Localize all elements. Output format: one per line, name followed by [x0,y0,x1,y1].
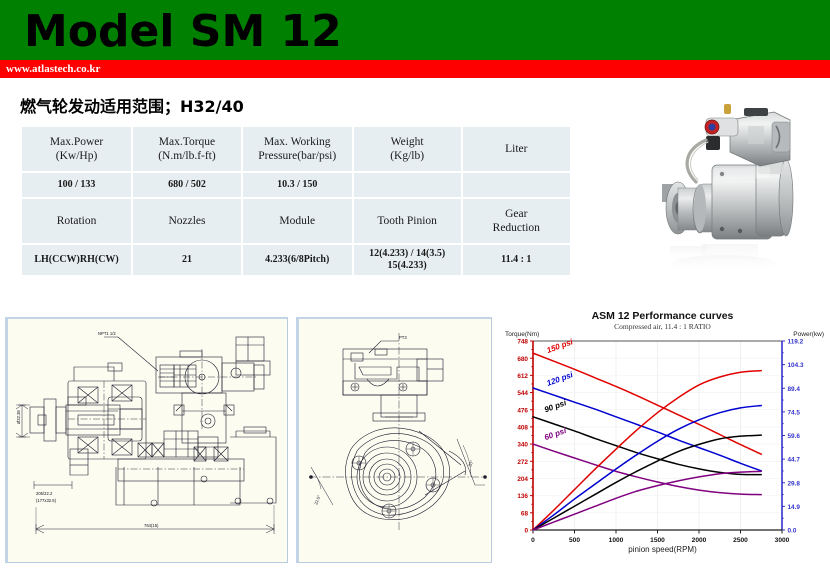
chart-title: ASM 12 Performance curves [497,310,828,322]
chart-ytick-right: 0.0 [788,528,797,535]
chart-ytick-left: 612 [517,373,528,380]
header-line-1: Max.Power [25,135,128,149]
performance-chart-panel: ASM 12 Performance curves Compressed air… [497,305,828,563]
header-line-1: Rotation [25,214,128,228]
chart-xtick: 2500 [733,537,748,544]
header-line-1: Weight [357,135,458,149]
value-cell-module: 4.233(6/8Pitch) [243,245,352,275]
drawing-panel-side-view[interactable]: NPT1 1/2 Ø32.38 205/22.2 (177x32.5) 764(… [5,317,288,563]
table-row-values-2: LH(CCW)RH(CW) 21 4.233(6/8Pitch) 12(4.23… [22,245,570,275]
chart-ytick-left: 748 [517,339,528,346]
table-row-header-2: Rotation Nozzles Module Tooth Pinion Gea… [22,199,570,243]
header-line-1: Module [246,214,349,228]
drawing-panel-front-view[interactable]: PT3 22.5° 30° 截图(Alt + A) [296,317,492,563]
table-row-values-1: 100 / 133 680 / 502 10.3 / 150 [22,173,570,197]
header-cell-nozzles: Nozzles [133,199,241,243]
header-line-2: Pressure(bar/psi) [246,149,349,163]
drawing-dim-overall: 764(15) [144,523,159,528]
value-cell-max-power: 100 / 133 [22,173,131,197]
chart-yaxis-label-right: Power(kw) [793,331,824,338]
value-cell-liter [463,173,570,197]
header-cell-gear-reduction: Gear Reduction [463,199,570,243]
drawing-dim-small-a: 205/22.2 [36,491,53,496]
chart-ytick-left: 0 [524,528,528,535]
chart-ytick-left: 340 [517,442,528,449]
header-line-2: (Kw/Hp) [25,149,128,163]
chart-ytick-right: 74.5 [788,409,801,416]
value-cell-rotation: LH(CCW)RH(CW) [22,245,131,275]
value-cell-gear-reduction: 11.4 : 1 [463,245,570,275]
front-section-assembly-drawing: PT3 22.5° 30° [299,319,491,561]
header-cell-liter: Liter [463,127,570,171]
value-cell-weight [354,173,461,197]
chart-ytick-right: 59.6 [788,433,801,440]
value-cell-nozzles: 21 [133,245,241,275]
drawing-dim-vertical: Ø32.38 [16,410,21,424]
chart-ytick-left: 136 [517,493,528,500]
drawing-callout-npt: NPT1 1/2 [98,331,116,336]
chart-ytick-right: 44.7 [788,457,801,464]
chart-ytick-right: 14.9 [788,504,801,511]
header-line-1: Gear [466,207,567,221]
drawing-dim-small-b: (177x32.5) [36,498,57,503]
chart-ytick-left: 544 [517,390,528,397]
value-cell-max-torque: 680 / 502 [133,173,241,197]
value-line-2: 15(4.233) [357,260,458,272]
header-cell-module: Module [243,199,352,243]
company-url: www.atlastech.co.kr [6,60,100,78]
section-subtitle: 燃气轮发动适用范围；H32/40 [20,93,244,117]
chart-ytick-left: 476 [517,407,528,414]
table-row-header-1: Max.Power (Kw/Hp) Max.Torque (N.m/lb.f-f… [22,127,570,171]
chart-xtick: 1500 [650,537,665,544]
chart-ytick-right: 104.3 [788,362,804,369]
starter-motor-illustration [662,96,826,294]
chart-ytick-right: 119.2 [788,339,804,346]
performance-chart-svg: 0681362042723404084765446126807480.014.9… [497,305,828,563]
chart-yaxis-label-left: Torque(Nm) [505,331,539,338]
drawing-angle-left: 22.5° [313,494,321,505]
header-cell-max-power: Max.Power (Kw/Hp) [22,127,131,171]
chart-ytick-left: 204 [517,476,528,483]
page-title: Model SM 12 [24,4,342,60]
header-line-1: Liter [466,142,567,156]
chart-ytick-right: 89.4 [788,386,801,393]
chart-subtitle: Compressed air, 11.4 : 1 RATIO [497,322,828,331]
chart-ytick-left: 272 [517,459,528,466]
chart-ytick-right: 29.8 [788,480,801,487]
header-line-2: Reduction [466,221,567,235]
url-red-band [0,60,830,78]
value-line-1: 12(4.233) / 14(3.5) [357,248,458,260]
chart-ytick-left: 680 [517,356,528,363]
side-section-assembly-drawing: NPT1 1/2 Ø32.38 205/22.2 (177x32.5) 764(… [8,319,287,561]
product-photo-starter-motor [662,96,826,294]
header-cell-rotation: Rotation [22,199,131,243]
header-line-2: (N.m/lb.f-ft) [136,149,238,163]
header-cell-max-torque: Max.Torque (N.m/lb.f-ft) [133,127,241,171]
chart-xaxis-label: pinion speed(RPM) [497,545,828,554]
chart-xtick: 2000 [692,537,707,544]
header-cell-weight: Weight (Kg/lb) [354,127,461,171]
header-line-1: Nozzles [136,214,238,228]
chart-xtick: 1000 [609,537,624,544]
header-line-1: Max.Torque [136,135,238,149]
drawing-callout-pt3: PT3 [399,335,407,340]
header-line-2: (Kg/lb) [357,149,458,163]
chart-ytick-left: 68 [521,510,529,517]
chart-xtick: 0 [531,537,535,544]
header-line-1: Max. Working [246,135,349,149]
chart-xtick: 500 [569,537,580,544]
value-cell-max-working-pressure: 10.3 / 150 [243,173,352,197]
header-line-1: Tooth Pinion [357,214,458,228]
chart-ytick-left: 408 [517,425,528,432]
specification-table: Max.Power (Kw/Hp) Max.Torque (N.m/lb.f-f… [20,125,572,277]
header-cell-tooth-pinion: Tooth Pinion [354,199,461,243]
drawing-angle-right: 30° [467,459,474,467]
header-cell-max-working-pressure: Max. Working Pressure(bar/psi) [243,127,352,171]
value-cell-tooth-pinion: 12(4.233) / 14(3.5) 15(4.233) [354,245,461,275]
chart-xtick: 3000 [775,537,790,544]
